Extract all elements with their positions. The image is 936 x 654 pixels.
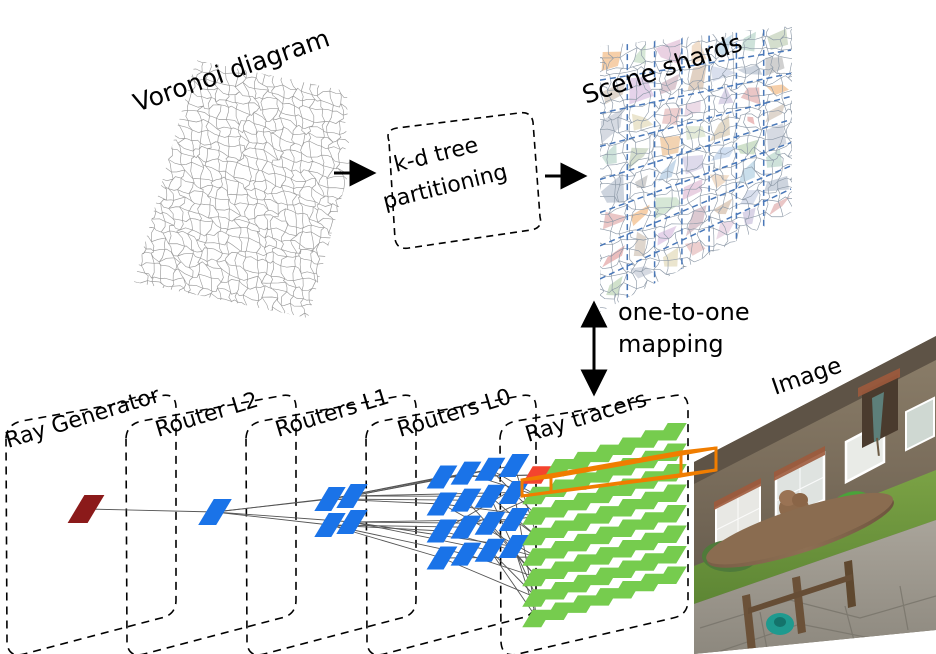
label-routers-l1: Routers L1	[272, 384, 392, 442]
node-router-l0	[499, 454, 530, 477]
mapping-label-line1: one-to-one	[618, 298, 750, 326]
label-routers-l0: Routers L0	[394, 384, 514, 442]
mapping-label-line2: mapping	[618, 330, 724, 358]
pipeline-nodes	[68, 423, 687, 627]
node-router-l0	[451, 462, 482, 485]
node-router-l0	[451, 543, 482, 566]
architecture-diagram: Voronoi diagram k-d tree partitioning Sc…	[0, 0, 936, 654]
figure-canvas: Voronoi diagram k-d tree partitioning Sc…	[0, 0, 936, 654]
label-ray-generator: Ray Generator	[2, 383, 163, 454]
pipeline-links	[86, 465, 537, 618]
